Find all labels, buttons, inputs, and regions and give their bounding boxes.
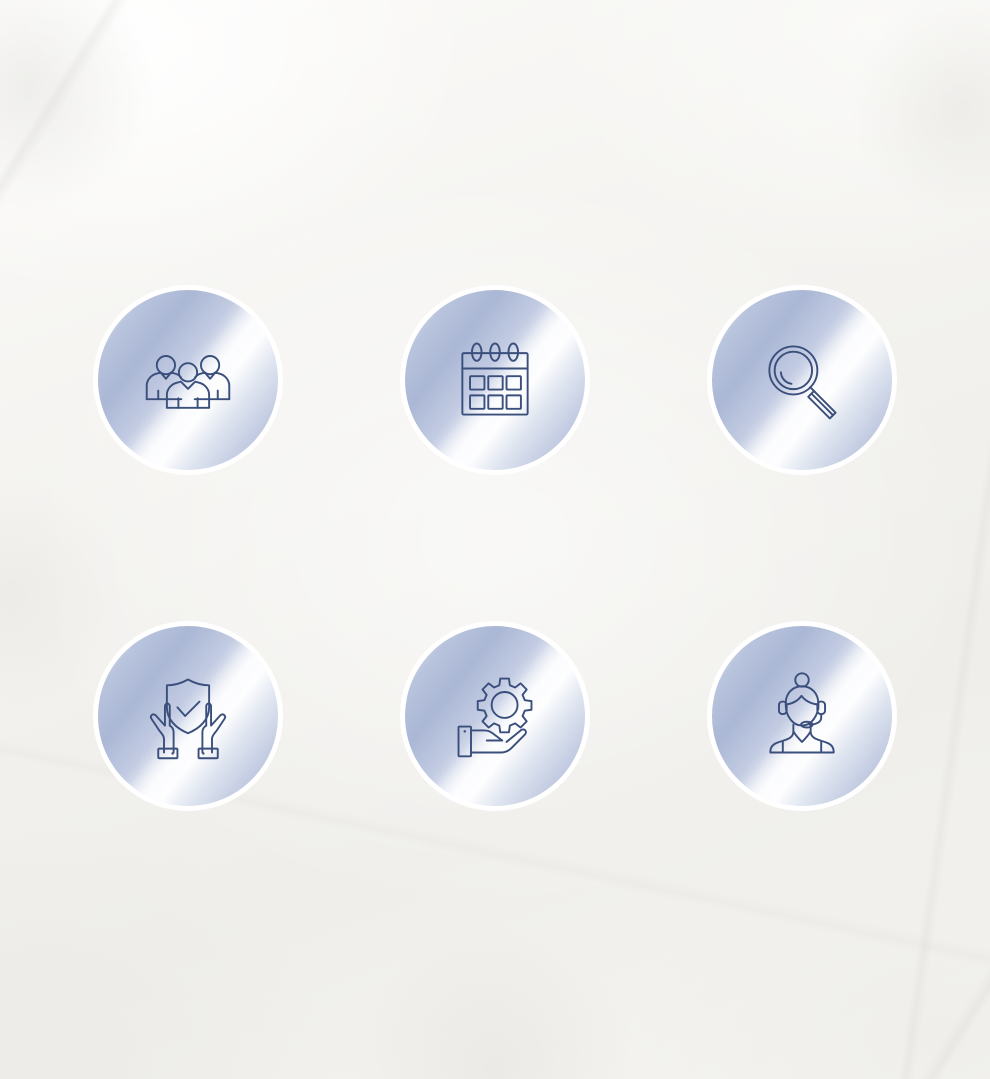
magnifying-glass-icon [754, 332, 850, 428]
hands-holding-shield-icon [140, 668, 236, 764]
icon-circle [98, 290, 278, 470]
calendar-icon [447, 332, 543, 428]
icon-circle [712, 626, 892, 806]
hand-holding-gear-icon [447, 668, 543, 764]
why-choose-us-page: Brand Protection WHY CHOOSE US [0, 0, 990, 1079]
icon-circle [405, 290, 585, 470]
paper-texture-background [0, 0, 990, 1079]
icon-circle [98, 626, 278, 806]
icon-circle [712, 290, 892, 470]
customer-service-agent-icon [754, 668, 850, 764]
group-of-people-icon [140, 332, 236, 428]
icon-circle [405, 626, 585, 806]
